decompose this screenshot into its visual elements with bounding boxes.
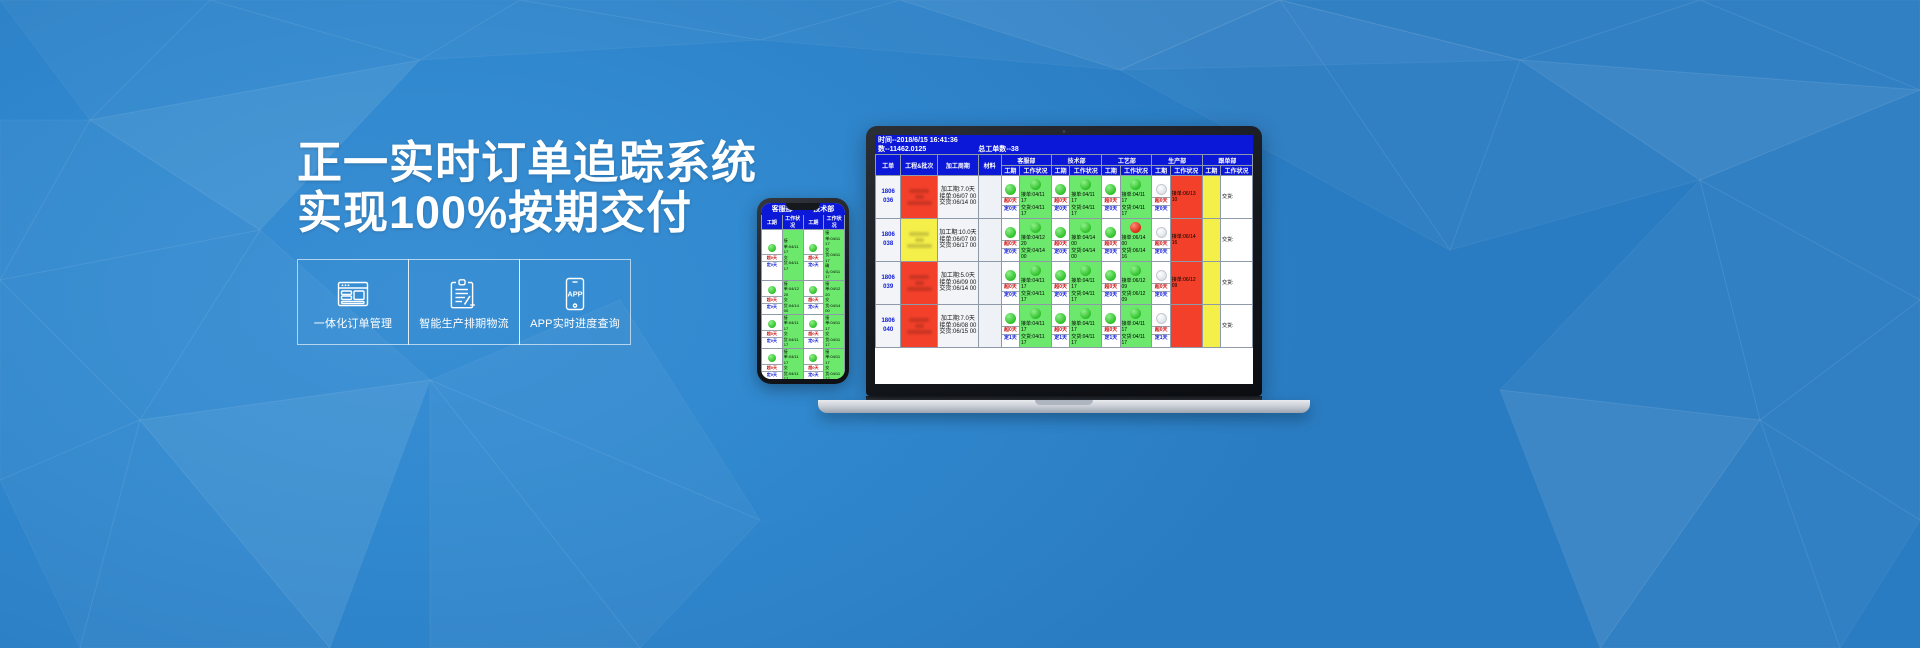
status-cell-content: 接单:04/11 17交货:04/11 17 [824, 349, 844, 380]
workorder-cell[interactable]: 1806038 [876, 219, 901, 262]
status-cell-content: 超0天定1天 [1002, 311, 1019, 342]
status-cell-content: 超0天定0天 [1052, 182, 1069, 213]
status-cell[interactable]: 接单:06/12 09交货:06/12 09 [1120, 262, 1152, 305]
processing-cycle-cell[interactable]: 加工期:5.0天接单:06/09 00交货:06/14 00 [938, 262, 978, 305]
cell-date-line: 交货:06/14 16 [1121, 248, 1152, 261]
cell-date-line: 交货:04/11 17 [824, 247, 844, 264]
cell-date-line: 交货:04/11 17 [1020, 334, 1051, 347]
status-dot-green-icon [809, 244, 817, 252]
sub-header-status: 工作状况 [1020, 166, 1052, 176]
status-cell-content: 超0天定0天 [762, 352, 782, 378]
status-cell[interactable]: 超0天定0天 [1102, 219, 1120, 262]
status-cell[interactable]: 接单:06/14 16 [1170, 219, 1202, 262]
status-cell[interactable]: 接单:04/11 17交货:04/11 17 [1020, 176, 1052, 219]
overdue-tag: 超0天 [804, 296, 824, 303]
status-cell[interactable]: 接单:04/11 17交货:04/11 17确认:04/11 17 [824, 230, 845, 281]
cell-date-line: 交货:04/11 17 [1070, 205, 1101, 218]
cell-date-line: 交货:04/11 17 [1121, 334, 1152, 347]
overdue-tag: 超0天 [1002, 197, 1019, 205]
overdue-tag: 超0天 [1152, 240, 1169, 248]
column-header-cycle: 加工周期 [938, 155, 978, 176]
status-indicator-wrapper [1002, 182, 1019, 197]
table-row[interactable]: 1806036加工期:7.0天接单:06/07 00交货:06/14 00超0天… [876, 176, 1253, 219]
status-indicator-wrapper [1020, 177, 1051, 192]
status-cell[interactable]: 超0天定0天 [762, 314, 783, 348]
workorder-cell[interactable]: 1806040 [876, 305, 901, 348]
overdue-tag: 超0天 [762, 254, 782, 261]
phone-table-body: 超0天定0天接单:04/11 17交货:04/11 17超0天定0天接单:04/… [762, 230, 845, 380]
status-cell-content: 接单:06/13 10 [1171, 191, 1202, 204]
status-cell[interactable]: 交货: [1220, 262, 1252, 305]
project-text-blur [909, 275, 929, 279]
cell-date-line: 交货:04/11 17 [1070, 291, 1101, 304]
phone-sub-header: 工作状况 [782, 215, 803, 230]
status-cell[interactable]: 接单:06/12 09 [1170, 262, 1202, 305]
cell-date-line: 交货:04/11 17 [824, 331, 844, 348]
scheduled-tag: 定0天 [804, 371, 824, 378]
cell-date-line: 接单:06/12 09 [1121, 278, 1152, 291]
cycle-duration: 加工期:7.0天 [938, 316, 977, 323]
overdue-tag: 超0天 [1052, 240, 1069, 248]
table-row[interactable]: 1806040加工期:7.0天接单:06/08 00交货:06/15 00超0天… [876, 305, 1253, 348]
scheduled-tag: 定0天 [804, 337, 824, 344]
overdue-tag: 超0天 [1152, 326, 1169, 334]
scheduled-tag: 定1天 [1052, 334, 1069, 342]
status-cell-content: 接单:04/11 17交货:04/11 17 [1020, 263, 1051, 304]
status-cell-content: 接单:04/11 17交货:04/11 17 [783, 238, 803, 271]
processing-cycle-cell[interactable]: 加工期:7.0天接单:06/07 00交货:06/14 00 [938, 176, 978, 219]
status-cell[interactable]: 超0天定0天 [1102, 262, 1120, 305]
scheduled-tag: 定0天 [1002, 248, 1019, 256]
column-header-workorder: 工单 [876, 155, 901, 176]
cell-date-line: 接单:06/13 10 [1171, 191, 1202, 204]
cell-date-line: 接单:04/11 17 [783, 315, 803, 332]
project-text-blur [907, 244, 932, 248]
column-header-project: 工程&批次 [901, 155, 938, 176]
status-cell-content: 超0天定0天 [804, 284, 824, 310]
project-text-blur [915, 238, 924, 242]
status-cell[interactable]: 超0天定0天 [803, 314, 824, 348]
processing-cycle-cell[interactable]: 加工期:10.0天接单:06/07 00交货:06/17 00 [938, 219, 978, 262]
status-indicator-wrapper [1002, 225, 1019, 240]
status-cell-content: 接单:04/11 17交货:04/11 17 [1121, 306, 1152, 347]
status-indicator-wrapper [1152, 268, 1169, 283]
workorder-prefix: 1806 [876, 231, 900, 240]
scheduled-tag: 定0天 [1002, 205, 1019, 213]
scheduled-tag: 定1天 [1002, 334, 1019, 342]
cell-date-line: 接单:04/11 17 [783, 349, 803, 366]
overdue-tag: 超0天 [1052, 197, 1069, 205]
status-cell-content: 超0天定0天 [1052, 225, 1069, 256]
column-header-material: 材料 [978, 155, 1001, 176]
status-cell[interactable]: 接单:04/11 17交货:04/11 17 [824, 314, 845, 348]
status-cell[interactable]: 超0天定0天 [1001, 176, 1019, 219]
dashboard-header-row-1: 时间--2018/6/15 16:41:36 [878, 136, 1250, 145]
status-dot-white-icon [1156, 184, 1167, 195]
status-cell[interactable]: 接单:04/12 20交货:04/14 00 [1020, 219, 1052, 262]
status-cell-content: 接单:04/11 17交货:04/11 17 [1121, 177, 1152, 218]
status-cell[interactable]: 超0天定0天 [803, 280, 824, 314]
status-cell[interactable]: 交货: [1220, 176, 1252, 219]
project-batch-cell[interactable] [901, 176, 938, 219]
cell-date-line: 接单:04/11 17 [824, 315, 844, 332]
status-cell[interactable]: 接单:06/14 00交货:06/14 16 [1120, 219, 1152, 262]
phone-screen[interactable]: 客服部 技术部 工期 工作状况 工期 工作状况 超0天定0天 [761, 203, 845, 379]
dept-header-followup: 跟单部 [1202, 155, 1252, 166]
status-cell[interactable]: 接单:06/13 10 [1170, 176, 1202, 219]
workorder-prefix: 1806 [876, 188, 900, 197]
scheduled-tag: 定0天 [1152, 205, 1169, 213]
scheduled-tag: 定1天 [1152, 334, 1169, 342]
status-cell[interactable]: 接单:04/11 17交货:04/11 17 [782, 230, 803, 281]
status-indicator-wrapper [1121, 263, 1152, 278]
overdue-tag: 超0天 [1152, 283, 1169, 291]
cell-date-line: 接单:04/11 17 [1020, 321, 1051, 334]
cell-date-line: 交货:04/11 17 [1020, 291, 1051, 304]
sub-header-status: 工作状况 [1220, 166, 1252, 176]
cell-date-line: 交货:04/11 17 [783, 255, 803, 272]
status-indicator-wrapper [804, 284, 824, 296]
status-cell-content: 交货: [1221, 280, 1252, 287]
cell-date-line: 交货:04/14 00 [1070, 248, 1101, 261]
status-cell[interactable]: 交货: [1220, 305, 1252, 348]
status-cell[interactable]: 超0天定1天 [1152, 305, 1170, 348]
status-cell-content: 超0天定0天 [804, 318, 824, 344]
laptop-base [818, 400, 1310, 413]
status-indicator-wrapper [1070, 220, 1101, 235]
department-header-row: 工单 工程&批次 加工周期 材料 客服部 技术部 工艺部 生产部 跟单部 [876, 155, 1253, 166]
scheduled-tag: 定0天 [1052, 291, 1069, 299]
cell-date-line: 接单:04/12 20 [783, 281, 803, 298]
status-cell-content: 接单:04/11 17交货:04/11 17确认:04/11 17 [824, 230, 844, 280]
cell-date-line: 交货:04/11 17 [783, 365, 803, 379]
status-cell[interactable]: 接单:04/11 17交货:04/11 17 [1120, 176, 1152, 219]
sub-header-status: 工作状况 [1170, 166, 1202, 176]
status-cell[interactable]: 接单:04/14 00交货:04/14 00 [1070, 219, 1102, 262]
phone-sub-header: 工作状况 [824, 215, 845, 230]
status-cell[interactable]: 接单:04/12 20交货:04/14 00 [824, 280, 845, 314]
status-cell[interactable]: 超0天定0天 [1001, 219, 1019, 262]
status-indicator-wrapper [1002, 268, 1019, 283]
status-cell[interactable]: 超0天定0天 [1152, 262, 1170, 305]
phone-notch [786, 203, 820, 210]
overdue-tag: 超0天 [1102, 326, 1119, 334]
phone-table-row[interactable]: 超0天定0天接单:04/11 17交货:04/11 17超0天定0天接单:04/… [762, 230, 845, 281]
laptop-camera [1063, 130, 1066, 133]
status-cell-content: 超0天定0天 [1002, 225, 1019, 256]
status-indicator-wrapper [1102, 311, 1119, 326]
workorder-suffix: 040 [876, 326, 900, 335]
status-cell-content: 超0天定0天 [1002, 182, 1019, 213]
status-cell[interactable]: 接单:04/11 17交货:04/11 17 [1020, 262, 1052, 305]
cell-date-line: 交货:04/14 00 [824, 297, 844, 314]
status-cell[interactable]: 超0天定1天 [1001, 305, 1019, 348]
scheduled-tag: 定0天 [1152, 291, 1169, 299]
status-indicator-wrapper [1070, 263, 1101, 278]
status-cell-content: 超0天定0天 [804, 242, 824, 268]
status-dot-green-icon [1030, 265, 1041, 276]
project-text-blur [907, 201, 932, 205]
workorder-suffix: 036 [876, 197, 900, 206]
status-cell-content: 接单:04/11 17交货:04/11 17 [1070, 306, 1101, 347]
overdue-tag: 超0天 [1152, 197, 1169, 205]
status-cell-content: 接单:04/12 20交货:04/14 00 [783, 281, 803, 314]
material-cell[interactable] [978, 305, 1001, 348]
status-cell[interactable]: 超0天定0天 [1052, 262, 1070, 305]
status-cell[interactable]: 超0天定0天 [762, 348, 783, 379]
status-indicator-wrapper [1020, 306, 1051, 321]
status-cell-content: 交货: [1221, 237, 1252, 244]
workorder-cell[interactable]: 1806039 [876, 262, 901, 305]
status-dot-green-icon [1080, 265, 1091, 276]
overdue-tag: 超0天 [1052, 283, 1069, 291]
status-dot-green-icon [1105, 313, 1116, 324]
status-dot-green-icon [1080, 179, 1091, 190]
sub-header-status: 工作状况 [1070, 166, 1102, 176]
overdue-tag: 超0天 [804, 330, 824, 337]
phone-table-row[interactable]: 超0天定0天接单:04/11 17交货:04/11 17超0天定0天接单:04/… [762, 314, 845, 348]
status-indicator-wrapper [1020, 220, 1051, 235]
status-cell-content: 接单:06/12 09 [1171, 277, 1202, 290]
status-cell-content: 超0天定0天 [1102, 225, 1119, 256]
cell-date-line: 接单:06/14 00 [1121, 235, 1152, 248]
status-indicator-wrapper [1102, 225, 1119, 240]
status-dot-green-icon [1055, 313, 1066, 324]
status-cell[interactable]: 超0天定0天 [1152, 219, 1170, 262]
status-dot-green-icon [768, 354, 776, 362]
status-cell[interactable] [1202, 219, 1220, 262]
status-cell[interactable]: 接单:04/11 17交货:04/11 17 [824, 348, 845, 379]
status-dot-green-icon [768, 286, 776, 294]
table-row[interactable]: 1806039加工期:5.0天接单:06/09 00交货:06/14 00超0天… [876, 262, 1253, 305]
phone-table-row[interactable]: 超0天定0天接单:04/12 20交货:04/14 00超0天定0天接单:04/… [762, 280, 845, 314]
status-cell-content: 超0天定0天 [1102, 268, 1119, 299]
status-cell[interactable]: 接单:04/11 17交货:04/11 17 [1070, 176, 1102, 219]
status-dot-green-icon [1055, 270, 1066, 281]
cell-date-line: 交货:04/11 17 [1020, 205, 1051, 218]
workorder-prefix: 1806 [876, 274, 900, 283]
status-cell-content: 接单:04/12 20交货:04/14 00 [824, 281, 844, 314]
status-cell[interactable]: 超0天定1天 [1102, 305, 1120, 348]
status-dot-white-icon [1156, 313, 1167, 324]
status-dot-green-icon [1130, 308, 1141, 319]
status-cell-content: 超0天定1天 [1102, 311, 1119, 342]
workorder-prefix: 1806 [876, 317, 900, 326]
status-cell[interactable] [1202, 262, 1220, 305]
sub-header-duration: 工期 [1202, 166, 1220, 176]
status-cell[interactable]: 超0天定0天 [1001, 262, 1019, 305]
project-batch-cell[interactable] [901, 262, 938, 305]
status-dot-green-icon [1005, 313, 1016, 324]
status-indicator-wrapper [1052, 268, 1069, 283]
project-text-blur [907, 330, 932, 334]
scheduled-tag: 定0天 [762, 303, 782, 310]
scheduled-tag: 定0天 [1102, 205, 1119, 213]
status-dot-green-icon [1105, 184, 1116, 195]
status-cell[interactable]: 接单:04/11 17交货:04/11 17 [1070, 305, 1102, 348]
cell-date-line: 交货:04/14 00 [1020, 248, 1051, 261]
cell-date-line: 接单:04/11 17 [1070, 321, 1101, 334]
cycle-duration: 加工期:5.0天 [938, 273, 977, 280]
status-cell[interactable]: 超0天定0天 [762, 230, 783, 281]
workorder-suffix: 039 [876, 283, 900, 292]
sub-header-duration: 工期 [1052, 166, 1070, 176]
dashboard-table: 工单 工程&批次 加工周期 材料 客服部 技术部 工艺部 生产部 跟单部 [875, 154, 1253, 348]
overdue-tag: 超0天 [1002, 283, 1019, 291]
status-cell-content: 超0天定0天 [1152, 225, 1169, 256]
phone-sub-header: 工期 [762, 215, 783, 230]
dashboard-total-orders-label: 总工单数--38 [978, 145, 1018, 154]
status-cell[interactable]: 接单:04/11 17交货:04/11 17 [782, 348, 803, 379]
dept-header-technology: 技术部 [1052, 155, 1102, 166]
cell-date-line: 接单:04/12 20 [1020, 235, 1051, 248]
status-indicator-wrapper [1152, 225, 1169, 240]
status-indicator-wrapper [762, 318, 782, 330]
status-dot-green-icon [1030, 179, 1041, 190]
cell-date-line: 交货: [1221, 323, 1252, 330]
status-dot-green-icon [809, 286, 817, 294]
status-cell-content: 超0天定0天 [1152, 268, 1169, 299]
status-dot-green-icon [1055, 184, 1066, 195]
project-text-blur [909, 318, 929, 322]
cell-date-line: 接单:04/11 17 [1070, 278, 1101, 291]
material-cell[interactable] [978, 262, 1001, 305]
status-cell-content: 超0天定0天 [762, 242, 782, 268]
cell-date-line: 接单:04/11 17 [1070, 192, 1101, 205]
status-cell[interactable]: 超0天定0天 [762, 280, 783, 314]
status-indicator-wrapper [1052, 182, 1069, 197]
status-cell[interactable]: 超0天定1天 [1052, 305, 1070, 348]
status-cell-content: 接单:06/14 00交货:06/14 16 [1121, 220, 1152, 261]
status-dot-green-icon [1030, 308, 1041, 319]
cell-date-line: 交货:06/12 09 [1121, 291, 1152, 304]
status-indicator-wrapper [762, 352, 782, 364]
project-batch-cell[interactable] [901, 305, 938, 348]
status-cell[interactable] [1202, 305, 1220, 348]
status-cell[interactable] [1170, 305, 1202, 348]
status-dot-white-icon [1156, 270, 1167, 281]
deliver-date: 交货:06/15 00 [938, 329, 977, 336]
status-cell-content: 接单:06/14 16 [1171, 234, 1202, 247]
cycle-duration: 加工期:7.0天 [938, 187, 977, 194]
workorder-cell[interactable]: 1806036 [876, 176, 901, 219]
status-cell[interactable]: 接单:04/11 17交货:04/11 17 [1020, 305, 1052, 348]
status-cell[interactable] [1202, 176, 1220, 219]
cell-date-line: 接单:04/11 17 [824, 349, 844, 366]
device-mockups: 客服部 技术部 工期 工作状况 工期 工作状况 超0天定0天 [0, 0, 1920, 648]
sub-header-duration: 工期 [1152, 166, 1170, 176]
overdue-tag: 超0天 [1102, 197, 1119, 205]
laptop-dashboard: 时间--2018/6/15 16:41:36 数--11462.0125 总工单… [875, 135, 1253, 384]
cell-date-line: 交货:04/11 17 [1070, 334, 1101, 347]
status-dot-green-icon [809, 354, 817, 362]
overdue-tag: 超0天 [1102, 240, 1119, 248]
overdue-tag: 超0天 [762, 296, 782, 303]
dashboard-number-label: 数--11462.0125 [878, 145, 926, 154]
phone-table-row[interactable]: 超0天定0天接单:04/11 17交货:04/11 17超0天定0天接单:04/… [762, 348, 845, 379]
status-cell-content: 超0天定0天 [762, 284, 782, 310]
status-cell[interactable]: 接单:04/12 20交货:04/14 00 [782, 280, 803, 314]
status-dot-green-icon [1005, 270, 1016, 281]
status-indicator-wrapper [1070, 177, 1101, 192]
cell-date-line: 交货:04/11 17 [824, 365, 844, 379]
status-cell-content: 超0天定0天 [1102, 182, 1119, 213]
scheduled-tag: 定0天 [1002, 291, 1019, 299]
status-cell[interactable]: 接单:04/11 17交货:04/11 17 [1120, 305, 1152, 348]
cycle-duration: 加工期:10.0天 [938, 230, 977, 237]
cell-date-line: 接单:06/12 09 [1171, 277, 1202, 290]
status-cell-content: 接单:04/12 20交货:04/14 00 [1020, 220, 1051, 261]
status-cell[interactable]: 超0天定0天 [1152, 176, 1170, 219]
phone-dashboard: 客服部 技术部 工期 工作状况 工期 工作状况 超0天定0天 [761, 203, 845, 379]
table-row[interactable]: 1806038加工期:10.0天接单:06/07 00交货:06/17 00超0… [876, 219, 1253, 262]
project-text-blur [909, 189, 929, 193]
status-dot-green-icon [768, 244, 776, 252]
status-cell[interactable]: 超0天定0天 [803, 348, 824, 379]
status-cell[interactable]: 接单:04/11 17交货:04/11 17 [782, 314, 803, 348]
status-indicator-wrapper [1002, 311, 1019, 326]
overdue-tag: 超0天 [804, 254, 824, 261]
laptop-mockup: 时间--2018/6/15 16:41:36 数--11462.0125 总工单… [866, 126, 1310, 413]
status-cell-content: 交货: [1221, 194, 1252, 201]
status-indicator-wrapper [1121, 306, 1152, 321]
status-cell[interactable]: 超0天定0天 [1052, 176, 1070, 219]
status-indicator-wrapper [762, 242, 782, 254]
scheduled-tag: 定0天 [804, 261, 824, 268]
status-indicator-wrapper [804, 242, 824, 254]
status-cell-content: 接单:04/11 17交货:04/11 17 [1070, 263, 1101, 304]
status-cell-content: 接单:04/11 17交货:04/11 17 [783, 349, 803, 380]
status-dot-green-icon [809, 320, 817, 328]
status-cell[interactable]: 交货: [1220, 219, 1252, 262]
cell-date-line: 接单:04/11 17 [824, 230, 844, 247]
material-cell[interactable] [978, 176, 1001, 219]
deliver-date: 交货:06/14 00 [938, 200, 977, 207]
overdue-tag: 超0天 [1002, 240, 1019, 248]
status-indicator-wrapper [1052, 311, 1069, 326]
status-dot-green-icon [768, 320, 776, 328]
status-cell[interactable]: 接单:04/11 17交货:04/11 17 [1070, 262, 1102, 305]
scheduled-tag: 定0天 [1102, 291, 1119, 299]
laptop-lid: 时间--2018/6/15 16:41:36 数--11462.0125 总工单… [866, 126, 1262, 396]
material-cell[interactable] [978, 219, 1001, 262]
status-cell-content: 超0天定0天 [1052, 268, 1069, 299]
dashboard-table-body: 1806036加工期:7.0天接单:06/07 00交货:06/14 00超0天… [876, 176, 1253, 348]
status-cell[interactable]: 超0天定0天 [1052, 219, 1070, 262]
status-indicator-wrapper [1121, 220, 1152, 235]
overdue-tag: 超0天 [1102, 283, 1119, 291]
sub-header-duration: 工期 [1001, 166, 1019, 176]
status-indicator-wrapper [1152, 182, 1169, 197]
project-batch-cell[interactable] [901, 219, 938, 262]
status-cell-content: 超0天定0天 [1002, 268, 1019, 299]
status-dot-green-icon [1080, 308, 1091, 319]
status-dot-green-icon [1105, 227, 1116, 238]
deliver-date: 交货:06/14 00 [938, 286, 977, 293]
laptop-screen[interactable]: 时间--2018/6/15 16:41:36 数--11462.0125 总工单… [875, 135, 1253, 384]
cell-date-line: 交货: [1221, 194, 1252, 201]
scheduled-tag: 定0天 [804, 303, 824, 310]
overdue-tag: 超0天 [1002, 326, 1019, 334]
status-indicator-wrapper [804, 318, 824, 330]
status-indicator-wrapper [1102, 182, 1119, 197]
processing-cycle-cell[interactable]: 加工期:7.0天接单:06/08 00交货:06/15 00 [938, 305, 978, 348]
status-cell[interactable]: 超0天定0天 [803, 230, 824, 281]
status-dot-green-icon [1105, 270, 1116, 281]
cell-date-line: 接单:04/11 17 [1121, 321, 1152, 334]
status-cell[interactable]: 超0天定0天 [1102, 176, 1120, 219]
scheduled-tag: 定0天 [1102, 248, 1119, 256]
